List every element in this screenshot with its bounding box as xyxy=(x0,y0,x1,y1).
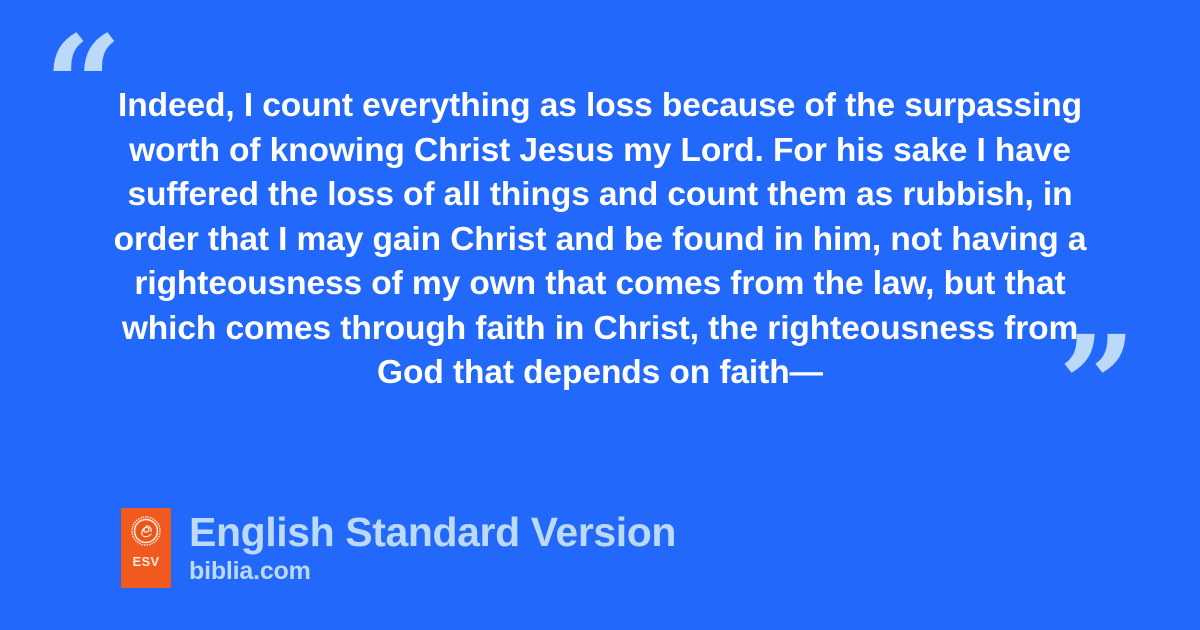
esv-seal-icon xyxy=(131,516,161,546)
brand-title: English Standard Version xyxy=(189,510,676,554)
brand-site-link[interactable]: biblia.com xyxy=(189,556,676,586)
brand-text-group: English Standard Version biblia.com xyxy=(189,508,676,586)
esv-logo-label: ESV xyxy=(133,555,160,568)
verse-block: Indeed, I count everything as loss becau… xyxy=(110,84,1090,396)
brand-lockup[interactable]: ESV English Standard Version biblia.com xyxy=(121,508,676,588)
esv-logo-tile[interactable]: ESV xyxy=(121,508,171,588)
verse-share-card: “ Indeed, I count everything as loss bec… xyxy=(0,0,1200,630)
close-quote-icon: ” xyxy=(1058,318,1136,454)
verse-text: Indeed, I count everything as loss becau… xyxy=(110,84,1090,396)
